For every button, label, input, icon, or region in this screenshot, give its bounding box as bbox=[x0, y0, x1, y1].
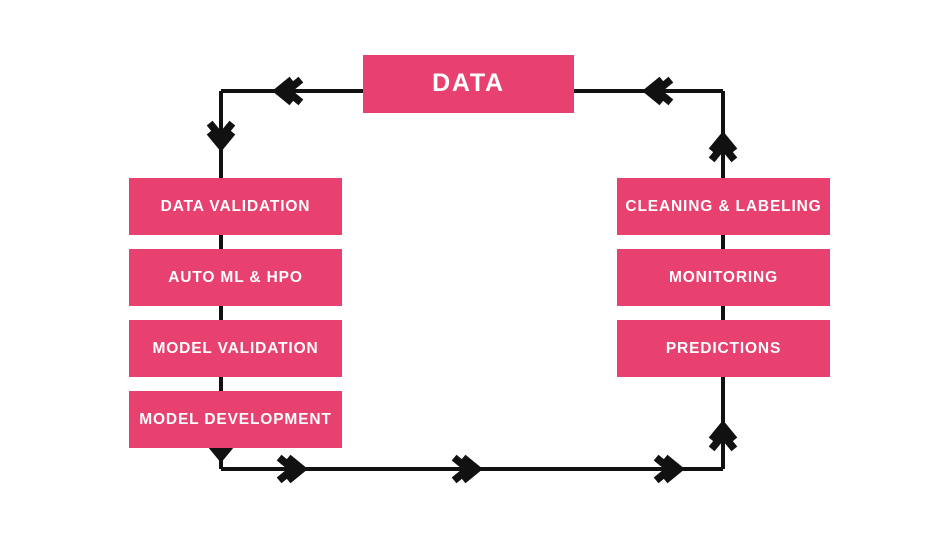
node-predictions-label: PREDICTIONS bbox=[666, 340, 781, 357]
node-model-validation[interactable]: MODEL VALIDATION bbox=[129, 320, 342, 377]
node-model-development-label: MODEL DEVELOPMENT bbox=[139, 411, 331, 428]
node-data-validation[interactable]: DATA VALIDATION bbox=[129, 178, 342, 235]
chevron-up-bottom-right bbox=[714, 426, 732, 446]
data-node[interactable]: DATA bbox=[363, 55, 574, 113]
chevron-right-bottom-3 bbox=[659, 460, 679, 478]
node-cleaning-and-labeling-label: CLEANING & LABELING bbox=[625, 198, 821, 215]
flow-diagram-canvas: DATA DATA VALIDATION AUTO ML & HPO MODEL… bbox=[0, 0, 936, 535]
chevron-right-bottom-1 bbox=[282, 460, 302, 478]
node-auto-ml-and-hpo-label: AUTO ML & HPO bbox=[168, 269, 303, 286]
chevron-down-top-left bbox=[212, 126, 230, 146]
node-model-development[interactable]: MODEL DEVELOPMENT bbox=[129, 391, 342, 448]
node-monitoring-label: MONITORING bbox=[669, 269, 778, 286]
node-monitoring[interactable]: MONITORING bbox=[617, 249, 830, 306]
node-cleaning-and-labeling[interactable]: CLEANING & LABELING bbox=[617, 178, 830, 235]
chevron-up-top-right bbox=[714, 137, 732, 157]
chevron-left-top-left bbox=[278, 82, 298, 100]
node-predictions[interactable]: PREDICTIONS bbox=[617, 320, 830, 377]
node-data-validation-label: DATA VALIDATION bbox=[161, 198, 311, 215]
chevron-right-bottom-2 bbox=[457, 460, 477, 478]
chevron-left-top-right bbox=[648, 82, 668, 100]
data-node-label: DATA bbox=[432, 70, 505, 98]
node-auto-ml-and-hpo[interactable]: AUTO ML & HPO bbox=[129, 249, 342, 306]
node-model-validation-label: MODEL VALIDATION bbox=[152, 340, 318, 357]
